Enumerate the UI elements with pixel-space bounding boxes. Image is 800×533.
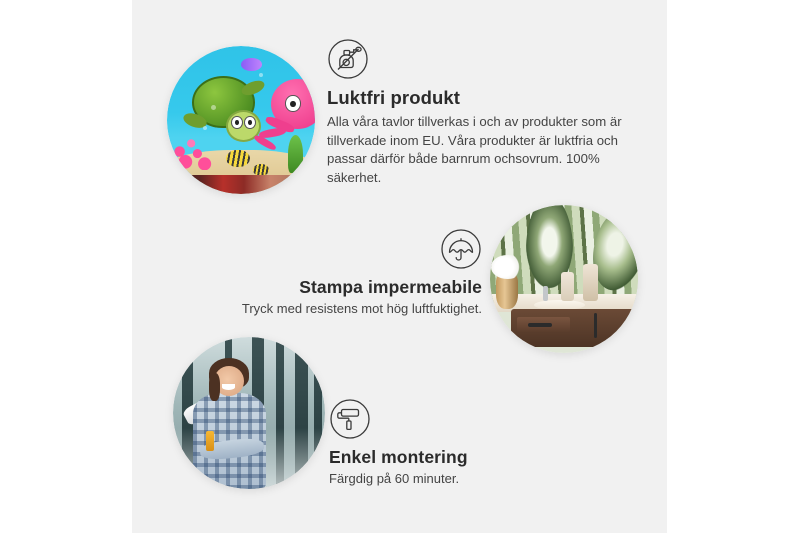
bathroom-scene xyxy=(490,205,638,353)
toiletry-bottle xyxy=(561,272,574,302)
hair-side xyxy=(209,373,220,400)
toiletry-bottle xyxy=(583,264,598,301)
hand-tool xyxy=(206,431,214,451)
cabinet-handle xyxy=(594,313,598,338)
faucet xyxy=(543,286,547,301)
feature-description: Färgdig på 60 minuter. xyxy=(329,470,619,489)
octopus-eye xyxy=(285,95,300,112)
feature-title: Enkel montering xyxy=(329,447,619,468)
underwater-illustration xyxy=(167,46,315,194)
content-panel: Luktfri produkt Alla våra tavlor tillver… xyxy=(132,0,667,533)
feature-title: Stampa impermeabile xyxy=(192,277,482,298)
feature-enkel-montering: Enkel montering Färgdig på 60 minuter. xyxy=(329,398,619,489)
bathroom-vanity-photo xyxy=(490,205,638,353)
forest-scene xyxy=(173,337,325,489)
feature-description: Tryck med resistens mot hög luftfuktighe… xyxy=(192,300,482,319)
paint-roller-icon xyxy=(329,398,371,440)
sea-weed xyxy=(288,135,303,173)
purple-fish xyxy=(241,58,262,71)
sea-floor-strip xyxy=(167,175,315,194)
feature-title: Luktfri produkt xyxy=(327,87,627,109)
bubble xyxy=(203,126,207,130)
pink-coral xyxy=(171,129,218,170)
underwater-cartoon-photo xyxy=(167,46,315,194)
no-fragrance-spray-bottle-icon xyxy=(327,38,369,80)
bubble xyxy=(259,73,263,77)
feature-description: Alla våra tavlor tillverkas i och av pro… xyxy=(327,113,627,187)
product-features-infographic: Luktfri produkt Alla våra tavlor tillver… xyxy=(0,0,800,533)
feature-luktfri-produkt: Luktfri produkt Alla våra tavlor tillver… xyxy=(327,38,627,187)
umbrella-icon xyxy=(440,228,482,270)
woman-with-paint-roller-photo xyxy=(173,337,325,489)
drawer-handle xyxy=(528,323,552,327)
striped-fish xyxy=(226,150,250,168)
white-flowers xyxy=(491,255,524,279)
feature-stampa-impermeabile: Stampa impermeabile Tryck med resistens … xyxy=(192,228,482,319)
